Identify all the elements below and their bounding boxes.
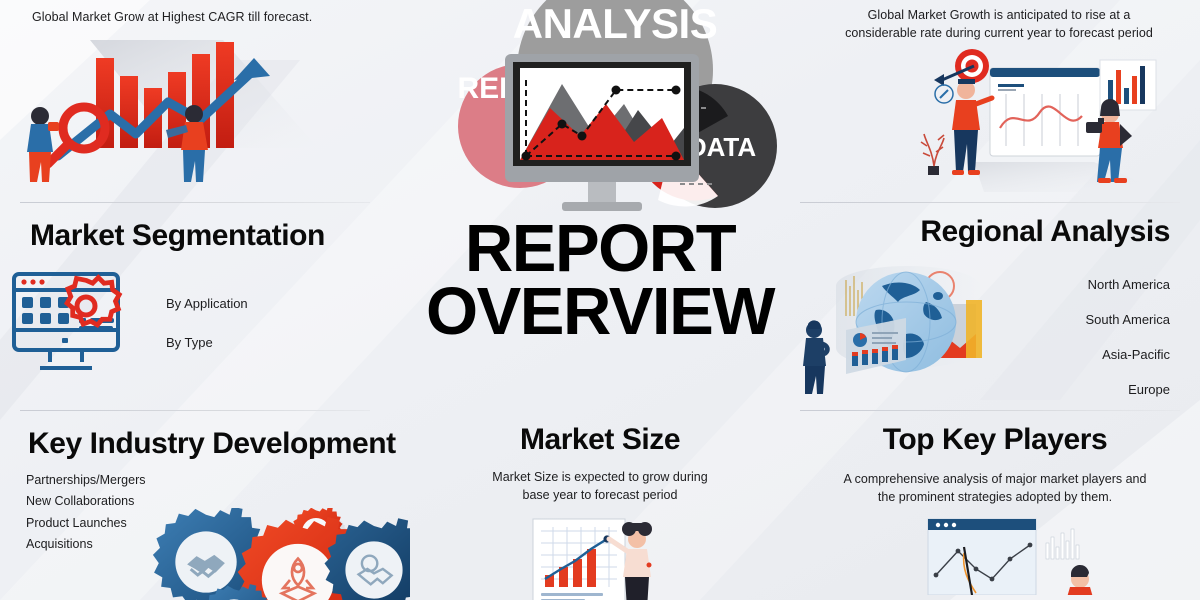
panel-top-key-players: Top Key Players A comprehensive analysis… xyxy=(790,410,1200,600)
segmentation-items: By Application By Type xyxy=(166,297,248,349)
report-overview-infographic: Global Market Grow at Highest CAGR till … xyxy=(0,0,1200,600)
region-item-2: Asia-Pacific xyxy=(1004,348,1170,361)
key-industry-development-title: Key Industry Development xyxy=(0,428,410,460)
panel-hero-analysis: ANALYSIS REPORT DATA xyxy=(410,0,790,202)
report-overview-line1: REPORT xyxy=(426,218,774,281)
analysis-label: ANALYSIS xyxy=(513,0,718,47)
browser-line-chart-illustration xyxy=(880,517,1110,595)
plant-decoration xyxy=(921,134,944,175)
top-key-players-sub-line1: A comprehensive analysis of major market… xyxy=(821,470,1169,489)
monitor-gear-icon xyxy=(0,264,150,382)
region-item-0: North America xyxy=(1004,278,1170,291)
top-right-blurb-line2: considerable rate during current year to… xyxy=(820,24,1178,42)
report-overview-line2: OVERVIEW xyxy=(426,281,774,344)
top-left-blurb: Global Market Grow at Highest CAGR till … xyxy=(0,8,410,26)
panel-global-market-growth: Global Market Growth is anticipated to r… xyxy=(790,0,1200,202)
panel-market-segmentation: Market Segmentation xyxy=(0,202,410,410)
key-industry-item-0: Partnerships/Mergers xyxy=(26,470,410,492)
region-item-1: South America xyxy=(1004,313,1170,326)
person-left-figure xyxy=(27,107,59,182)
segmentation-item-1: By Type xyxy=(166,336,248,349)
gears-illustration xyxy=(148,508,410,600)
panel-global-market-cagr: Global Market Grow at Highest CAGR till … xyxy=(0,0,410,202)
market-size-subtitle: Market Size is expected to grow during b… xyxy=(475,468,725,506)
person-analyst-figure xyxy=(1066,565,1094,595)
globe-dashboard-illustration xyxy=(790,256,1000,396)
region-item-3: Europe xyxy=(1004,383,1170,396)
top-key-players-sub-line2: the prominent strategies adopted by them… xyxy=(821,488,1169,507)
market-size-sub-line1: Market Size is expected to grow during xyxy=(475,468,725,487)
report-overview-heading: REPORT OVERVIEW xyxy=(426,218,774,344)
top-right-blurb: Global Market Growth is anticipated to r… xyxy=(790,6,1200,42)
growth-bar-chart-illustration xyxy=(18,28,328,190)
top-right-blurb-line1: Global Market Growth is anticipated to r… xyxy=(820,6,1178,24)
panel-report-overview-title: REPORT OVERVIEW xyxy=(410,202,790,410)
panel-market-size: Market Size Market Size is expected to g… xyxy=(410,410,790,600)
regional-analysis-title: Regional Analysis xyxy=(790,216,1200,248)
top-key-players-subtitle: A comprehensive analysis of major market… xyxy=(821,470,1169,508)
market-segmentation-title: Market Segmentation xyxy=(0,220,410,252)
person-observer-figure xyxy=(803,320,827,394)
presentation-target-illustration xyxy=(914,42,1164,192)
market-size-title: Market Size xyxy=(520,424,680,456)
regional-items: North America South America Asia-Pacific… xyxy=(1004,278,1200,396)
person-presenting-figure xyxy=(952,79,992,175)
segmentation-item-0: By Application xyxy=(166,297,248,310)
gear-icon xyxy=(67,277,119,325)
market-size-sub-line2: base year to forecast period xyxy=(475,486,725,505)
top-key-players-title: Top Key Players xyxy=(883,424,1107,456)
panel-regional-analysis: Regional Analysis xyxy=(790,202,1200,410)
panel-key-industry-development: Key Industry Development Partnerships/Me… xyxy=(0,410,410,600)
whiteboard-bar-chart-illustration xyxy=(515,517,685,600)
